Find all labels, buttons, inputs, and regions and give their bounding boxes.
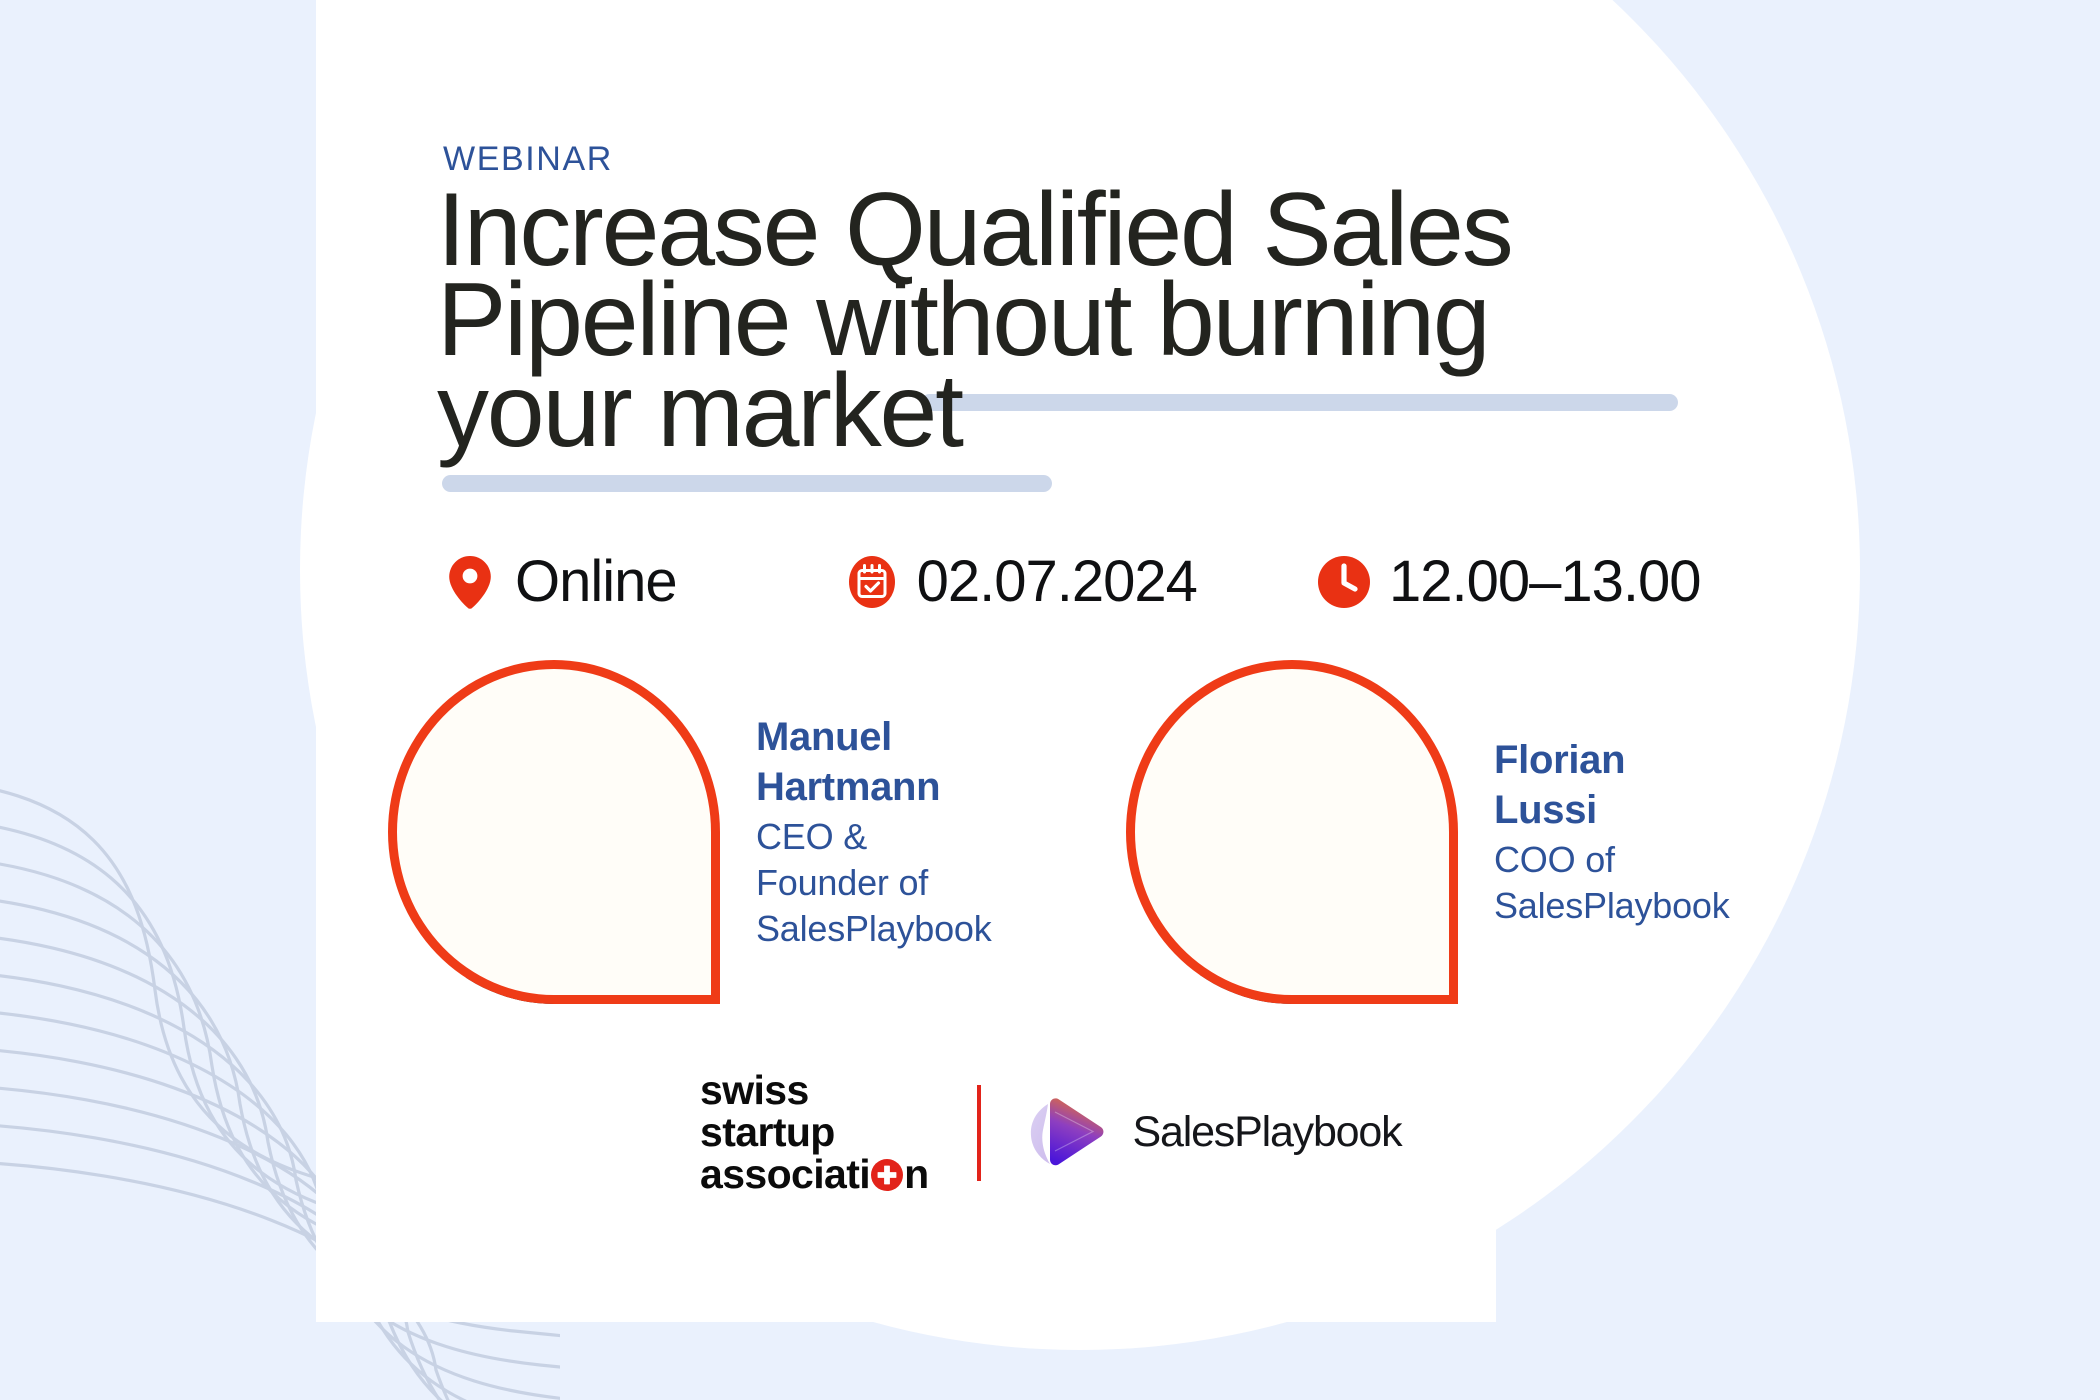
play-triangle-icon — [1025, 1090, 1111, 1176]
speaker-info-2: Florian Lussi COO of SalesPlaybook — [1494, 735, 1730, 929]
headline-highlight-bar-2 — [442, 475, 1052, 492]
ssa-line-2: startup — [700, 1112, 929, 1154]
page-title: Increase Qualified Sales Pipeline withou… — [437, 185, 1777, 456]
calendar-icon — [845, 555, 899, 609]
event-meta-location: Online — [443, 548, 677, 615]
event-meta-date: 02.07.2024 — [845, 548, 1197, 615]
logo-row: swiss startup associati n — [700, 1070, 1401, 1195]
portrait-frame — [1126, 660, 1458, 1004]
swiss-startup-association-logo: swiss startup associati n — [700, 1070, 929, 1195]
speaker-name: Manuel Hartmann — [756, 712, 992, 812]
swiss-cross-icon — [870, 1158, 904, 1192]
event-meta-time-label: 12.00–13.00 — [1389, 548, 1701, 615]
card-content: WEBINAR Increase Qualified Sales Pipelin… — [0, 0, 2100, 1400]
speaker-role: CEO & Founder of SalesPlaybook — [756, 814, 992, 952]
event-meta-row: Online 02.07.2024 — [443, 548, 1701, 615]
speaker-role: COO of SalesPlaybook — [1494, 837, 1730, 929]
event-meta-location-label: Online — [515, 548, 677, 615]
clock-icon — [1317, 555, 1371, 609]
ssa-word-n: n — [904, 1154, 928, 1196]
location-pin-icon — [443, 555, 497, 609]
salesplaybook-logo: SalesPlaybook — [1025, 1090, 1402, 1176]
logo-divider — [977, 1085, 981, 1181]
webinar-promo-graphic: WEBINAR Increase Qualified Sales Pipelin… — [0, 0, 2100, 1400]
speaker-card-1: Manuel Hartmann CEO & Founder of SalesPl… — [388, 660, 992, 1004]
speaker-info-1: Manuel Hartmann CEO & Founder of SalesPl… — [756, 712, 992, 952]
ssa-line-3: associati n — [700, 1154, 929, 1196]
avatar — [1126, 660, 1458, 1004]
event-meta-date-label: 02.07.2024 — [917, 548, 1197, 615]
event-meta-time: 12.00–13.00 — [1317, 548, 1701, 615]
speaker-card-2: Florian Lussi COO of SalesPlaybook — [1126, 660, 1730, 1004]
ssa-word-startup: startup — [700, 1112, 835, 1154]
speaker-name: Florian Lussi — [1494, 735, 1730, 835]
ssa-word-swiss: swiss — [700, 1070, 809, 1112]
portrait-frame — [388, 660, 720, 1004]
salesplaybook-wordmark: SalesPlaybook — [1133, 1108, 1402, 1157]
avatar — [388, 660, 720, 1004]
ssa-word-associati: associati — [700, 1154, 870, 1196]
ssa-line-1: swiss — [700, 1070, 929, 1112]
